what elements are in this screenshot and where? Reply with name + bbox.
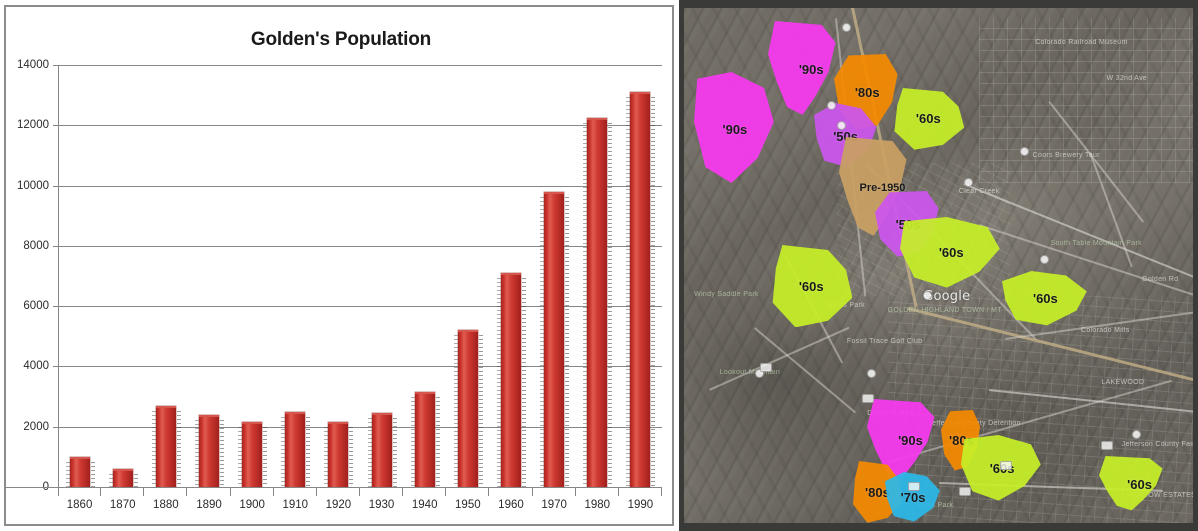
highway-shield-icon bbox=[1101, 441, 1113, 450]
screenshot-root: Golden's Population 02000400060008000100… bbox=[0, 0, 1198, 531]
x-tick-mark bbox=[231, 487, 274, 497]
x-tick-mark bbox=[446, 487, 489, 497]
chart-title: Golden's Population bbox=[6, 29, 676, 51]
x-tick-mark bbox=[144, 487, 187, 497]
bar-slot bbox=[446, 65, 489, 487]
era-polygon-60s[interactable]: '60s bbox=[1002, 271, 1089, 328]
bar-slot bbox=[187, 65, 230, 487]
era-polygon-90s[interactable]: '90s bbox=[694, 72, 775, 185]
x-tick-mark bbox=[58, 487, 101, 497]
bar-1960[interactable] bbox=[501, 273, 521, 487]
highway-shield-icon bbox=[908, 482, 920, 491]
bar-1910[interactable] bbox=[285, 412, 305, 487]
highway-shield-icon bbox=[959, 487, 971, 496]
population-chart-panel: Golden's Population 02000400060008000100… bbox=[0, 0, 679, 531]
map-place-label: Jefferson County Fairgrounds bbox=[1122, 441, 1193, 448]
map-place-label: Colorado Mills bbox=[1081, 327, 1130, 334]
map-poi-marker[interactable] bbox=[827, 101, 836, 110]
highway-shield-icon bbox=[862, 394, 874, 403]
map-place-label: GOLDEN HIGHLAND TOWN / MT bbox=[888, 307, 1002, 314]
x-axis-label-1930: 1930 bbox=[360, 499, 403, 511]
map-place-label: Colorado Railroad Museum bbox=[1035, 39, 1127, 46]
aerial-map-panel[interactable]: Colorado Railroad MuseumW 32nd AveCoors … bbox=[679, 0, 1198, 531]
x-tick-mark bbox=[187, 487, 230, 497]
polygon-fill bbox=[771, 245, 852, 327]
map-place-label: LAKEWOOD bbox=[1101, 379, 1144, 386]
x-axis-labels: 1860187018801890190019101920193019401950… bbox=[58, 499, 662, 511]
x-axis-label-1920: 1920 bbox=[317, 499, 360, 511]
polygon-fill bbox=[694, 72, 775, 185]
x-tick-mark bbox=[489, 487, 532, 497]
x-axis-label-1910: 1910 bbox=[274, 499, 317, 511]
map-place-label: Golden Rd bbox=[1142, 276, 1178, 283]
bar-1860[interactable] bbox=[70, 457, 90, 487]
map-place-label: Windy Saddle Park bbox=[694, 291, 759, 298]
bar-slot bbox=[576, 65, 619, 487]
map-place-label: Fossil Trace Golf Club bbox=[847, 338, 922, 345]
x-tick-mark bbox=[274, 487, 317, 497]
bar-1970[interactable] bbox=[544, 192, 564, 487]
x-axis-label-1900: 1900 bbox=[231, 499, 274, 511]
x-axis-label-1940: 1940 bbox=[403, 499, 446, 511]
bar-slot bbox=[144, 65, 187, 487]
bar-1990[interactable] bbox=[630, 92, 650, 487]
map-poi-marker[interactable] bbox=[1020, 147, 1029, 156]
bar-slot bbox=[619, 65, 662, 487]
era-polygon-60s[interactable]: '60s bbox=[1099, 456, 1180, 513]
bar-slot bbox=[317, 65, 360, 487]
x-axis-label-1980: 1980 bbox=[576, 499, 619, 511]
x-tick-mark bbox=[576, 487, 619, 497]
highway-shield-icon bbox=[1000, 461, 1012, 470]
bar-1940[interactable] bbox=[415, 392, 435, 487]
bar-1930[interactable] bbox=[372, 413, 392, 487]
polygon-fill bbox=[885, 472, 941, 524]
y-axis-label: 12000 bbox=[17, 119, 49, 131]
x-axis-label-1890: 1890 bbox=[187, 499, 230, 511]
bar-slot bbox=[58, 65, 101, 487]
satellite-imagery[interactable]: Colorado Railroad MuseumW 32nd AveCoors … bbox=[684, 8, 1193, 523]
era-polygon-70s[interactable]: '70s bbox=[885, 472, 941, 524]
bar-slot bbox=[274, 65, 317, 487]
chart-plot-area: 02000400060008000100001200014000 bbox=[58, 65, 662, 487]
era-polygon-60s[interactable]: '60s bbox=[771, 245, 852, 327]
x-tick-mark bbox=[619, 487, 662, 497]
x-axis-ticks bbox=[58, 487, 662, 497]
polygon-fill bbox=[900, 217, 1002, 289]
bar-slot bbox=[533, 65, 576, 487]
map-place-label: South Table Mountain Park bbox=[1050, 240, 1141, 247]
x-axis-label-1990: 1990 bbox=[619, 499, 662, 511]
x-tick-mark bbox=[533, 487, 576, 497]
y-axis-label: 2000 bbox=[23, 421, 49, 433]
bar-1870[interactable] bbox=[113, 469, 133, 487]
bar-slot bbox=[231, 65, 274, 487]
map-poi-marker[interactable] bbox=[964, 178, 973, 187]
bar-slot bbox=[403, 65, 446, 487]
highway-shield-icon bbox=[760, 363, 772, 372]
map-place-label: Clear Creek bbox=[959, 188, 1000, 195]
x-axis-label-1970: 1970 bbox=[533, 499, 576, 511]
bar-slot bbox=[101, 65, 144, 487]
x-tick-mark bbox=[360, 487, 403, 497]
bar-slot bbox=[360, 65, 403, 487]
polygon-fill bbox=[1099, 456, 1180, 513]
x-tick-mark bbox=[317, 487, 360, 497]
bar-1890[interactable] bbox=[199, 415, 219, 487]
map-poi-marker[interactable] bbox=[837, 121, 846, 130]
x-axis-label-1870: 1870 bbox=[101, 499, 144, 511]
y-axis-label: 6000 bbox=[23, 300, 49, 312]
x-axis-label-1880: 1880 bbox=[144, 499, 187, 511]
map-place-label: Coors Brewery Tour bbox=[1033, 152, 1100, 159]
bar-1950[interactable] bbox=[458, 330, 478, 487]
bar-1920[interactable] bbox=[328, 422, 348, 487]
map-poi-marker[interactable] bbox=[867, 369, 876, 378]
x-axis-label-1860: 1860 bbox=[58, 499, 101, 511]
x-axis-label-1960: 1960 bbox=[489, 499, 532, 511]
x-tick-mark bbox=[101, 487, 144, 497]
map-place-label: W 32nd Ave bbox=[1106, 75, 1147, 82]
bar-slot bbox=[489, 65, 532, 487]
x-tick-mark bbox=[403, 487, 446, 497]
y-axis-label: 4000 bbox=[23, 360, 49, 372]
chart-bars bbox=[58, 65, 662, 487]
y-axis-label: 8000 bbox=[23, 240, 49, 252]
y-axis-label: 14000 bbox=[17, 59, 49, 71]
polygon-fill bbox=[1002, 271, 1089, 328]
era-polygon-60s[interactable]: '60s bbox=[900, 217, 1002, 289]
bar-1900[interactable] bbox=[242, 422, 262, 487]
chart-frame: Golden's Population 02000400060008000100… bbox=[4, 5, 674, 526]
x-axis-label-1950: 1950 bbox=[446, 499, 489, 511]
bar-1980[interactable] bbox=[587, 118, 607, 487]
bar-1880[interactable] bbox=[156, 406, 176, 487]
y-axis-label: 10000 bbox=[17, 180, 49, 192]
